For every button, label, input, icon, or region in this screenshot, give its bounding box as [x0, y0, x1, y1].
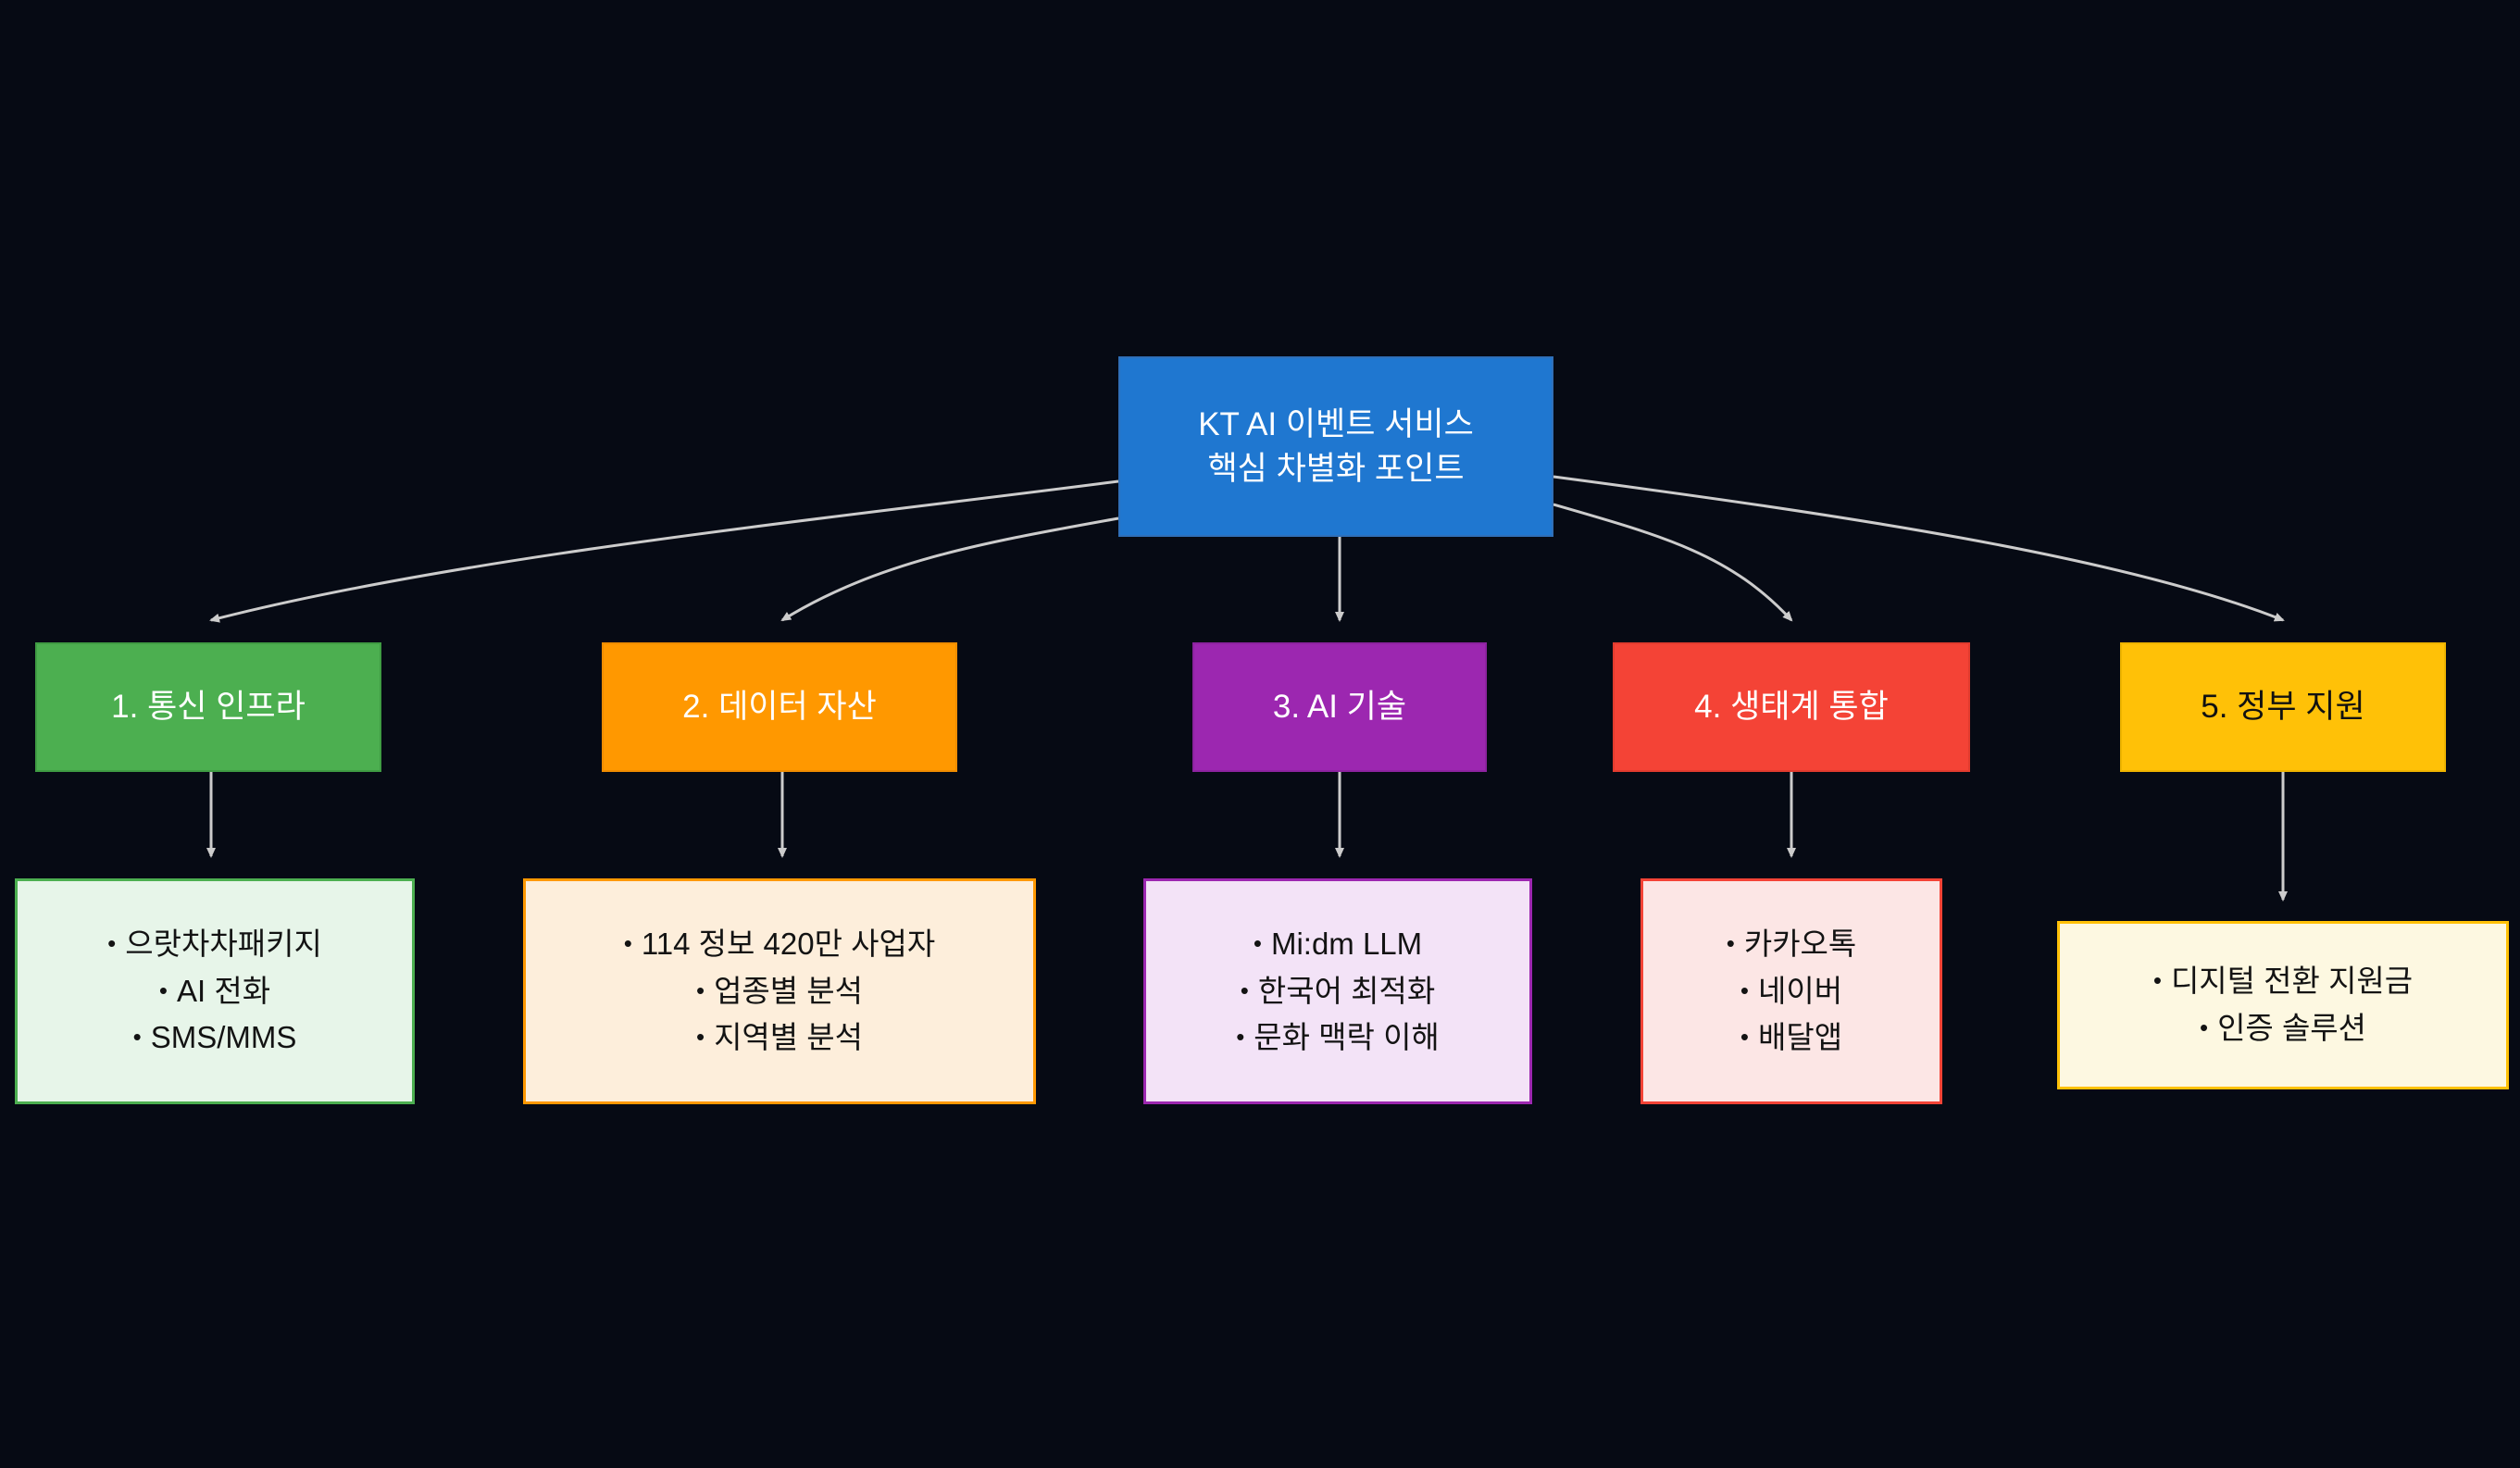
- node-category-label: 4. 생태계 통합: [1694, 685, 1889, 728]
- list-item: •AI 전화: [159, 968, 270, 1015]
- node-category-label: 2. 데이터 자산: [682, 685, 877, 728]
- node-category-government-support[interactable]: 5. 정부 지원: [2120, 642, 2446, 772]
- list-item-label: 으랏차차패키지: [125, 927, 322, 961]
- list-item-label: Mi:dm LLM: [1271, 927, 1422, 961]
- bullet-icon: •: [624, 927, 632, 960]
- node-leaf-ai-tech[interactable]: •Mi:dm LLM •한국어 최적화 •문화 맥락 이해: [1143, 878, 1532, 1104]
- list-item-label: AI 전화: [177, 974, 270, 1008]
- node-leaf-data-assets[interactable]: •114 정보 420만 사업자 •업종별 분석 •지역별 분석: [523, 878, 1036, 1104]
- list-item: •으랏차차패키지: [107, 921, 322, 968]
- bullet-icon: •: [1241, 975, 1249, 1007]
- node-category-data-assets[interactable]: 2. 데이터 자산: [602, 642, 957, 772]
- bullet-icon: •: [1236, 1021, 1244, 1053]
- node-category-telecom-infra[interactable]: 1. 통신 인프라: [35, 642, 381, 772]
- list-item: •문화 맥락 이해: [1236, 1014, 1440, 1062]
- bullet-icon: •: [2200, 1012, 2208, 1044]
- bullet-icon: •: [2153, 964, 2162, 997]
- list-item-label: 인증 솔루션: [2217, 1011, 2366, 1045]
- edge-root-to-cat-2: [782, 518, 1118, 620]
- edge-root-to-cat-1: [211, 481, 1118, 620]
- bullet-icon: •: [696, 975, 705, 1007]
- node-category-label: 3. AI 기술: [1273, 685, 1406, 728]
- list-item: •인증 솔루션: [2200, 1005, 2366, 1052]
- list-item-label: 114 정보 420만 사업자: [642, 927, 935, 961]
- list-item: •네이버: [1740, 968, 1842, 1015]
- node-category-ai-tech[interactable]: 3. AI 기술: [1192, 642, 1487, 772]
- bullet-icon: •: [133, 1021, 142, 1053]
- bullet-icon: •: [1740, 1021, 1749, 1053]
- node-category-label: 5. 정부 지원: [2201, 685, 2364, 728]
- edge-root-to-cat-5: [1553, 477, 2283, 620]
- bullet-icon: •: [159, 975, 168, 1007]
- list-item: •한국어 최적화: [1241, 968, 1435, 1015]
- list-item-label: SMS/MMS: [151, 1020, 297, 1054]
- list-item-label: 업종별 분석: [714, 974, 863, 1008]
- list-item-label: 문화 맥락 이해: [1254, 1020, 1440, 1054]
- list-item-label: 한국어 최적화: [1258, 974, 1435, 1008]
- list-item: •카카오톡: [1727, 921, 1857, 968]
- list-item-label: 네이버: [1758, 974, 1842, 1008]
- diagram-canvas: KT AI 이벤트 서비스 핵심 차별화 포인트 1. 통신 인프라 2. 데이…: [0, 0, 2520, 1468]
- node-leaf-telecom-infra[interactable]: •으랏차차패키지 •AI 전화 •SMS/MMS: [15, 878, 415, 1104]
- bullet-icon: •: [1727, 927, 1735, 960]
- node-leaf-government-support[interactable]: •디지털 전환 지원금 •인증 솔루션: [2057, 921, 2509, 1089]
- list-item-label: 디지털 전환 지원금: [2171, 964, 2413, 998]
- list-item: •업종별 분석: [696, 968, 863, 1015]
- node-root[interactable]: KT AI 이벤트 서비스 핵심 차별화 포인트: [1118, 356, 1553, 537]
- list-item: •디지털 전환 지원금: [2153, 958, 2413, 1005]
- node-leaf-ecosystem-integration[interactable]: •카카오톡 •네이버 •배달앱: [1640, 878, 1942, 1104]
- node-root-line-2: 핵심 차별화 포인트: [1207, 447, 1464, 491]
- list-item: •배달앱: [1740, 1014, 1842, 1062]
- bullet-icon: •: [1740, 975, 1749, 1007]
- list-item: •114 정보 420만 사업자: [624, 921, 935, 968]
- bullet-icon: •: [1254, 927, 1262, 960]
- list-item-label: 지역별 분석: [714, 1020, 863, 1054]
- edge-root-to-cat-4: [1553, 504, 1791, 620]
- list-item: •SMS/MMS: [133, 1014, 297, 1062]
- node-root-line-1: KT AI 이벤트 서비스: [1198, 403, 1474, 446]
- list-item: •지역별 분석: [696, 1014, 863, 1062]
- node-category-ecosystem-integration[interactable]: 4. 생태계 통합: [1613, 642, 1970, 772]
- list-item: •Mi:dm LLM: [1254, 921, 1422, 968]
- list-item-label: 카카오톡: [1744, 927, 1856, 961]
- node-category-label: 1. 통신 인프라: [111, 685, 306, 728]
- list-item-label: 배달앱: [1758, 1020, 1842, 1054]
- bullet-icon: •: [696, 1021, 705, 1053]
- bullet-icon: •: [107, 927, 116, 960]
